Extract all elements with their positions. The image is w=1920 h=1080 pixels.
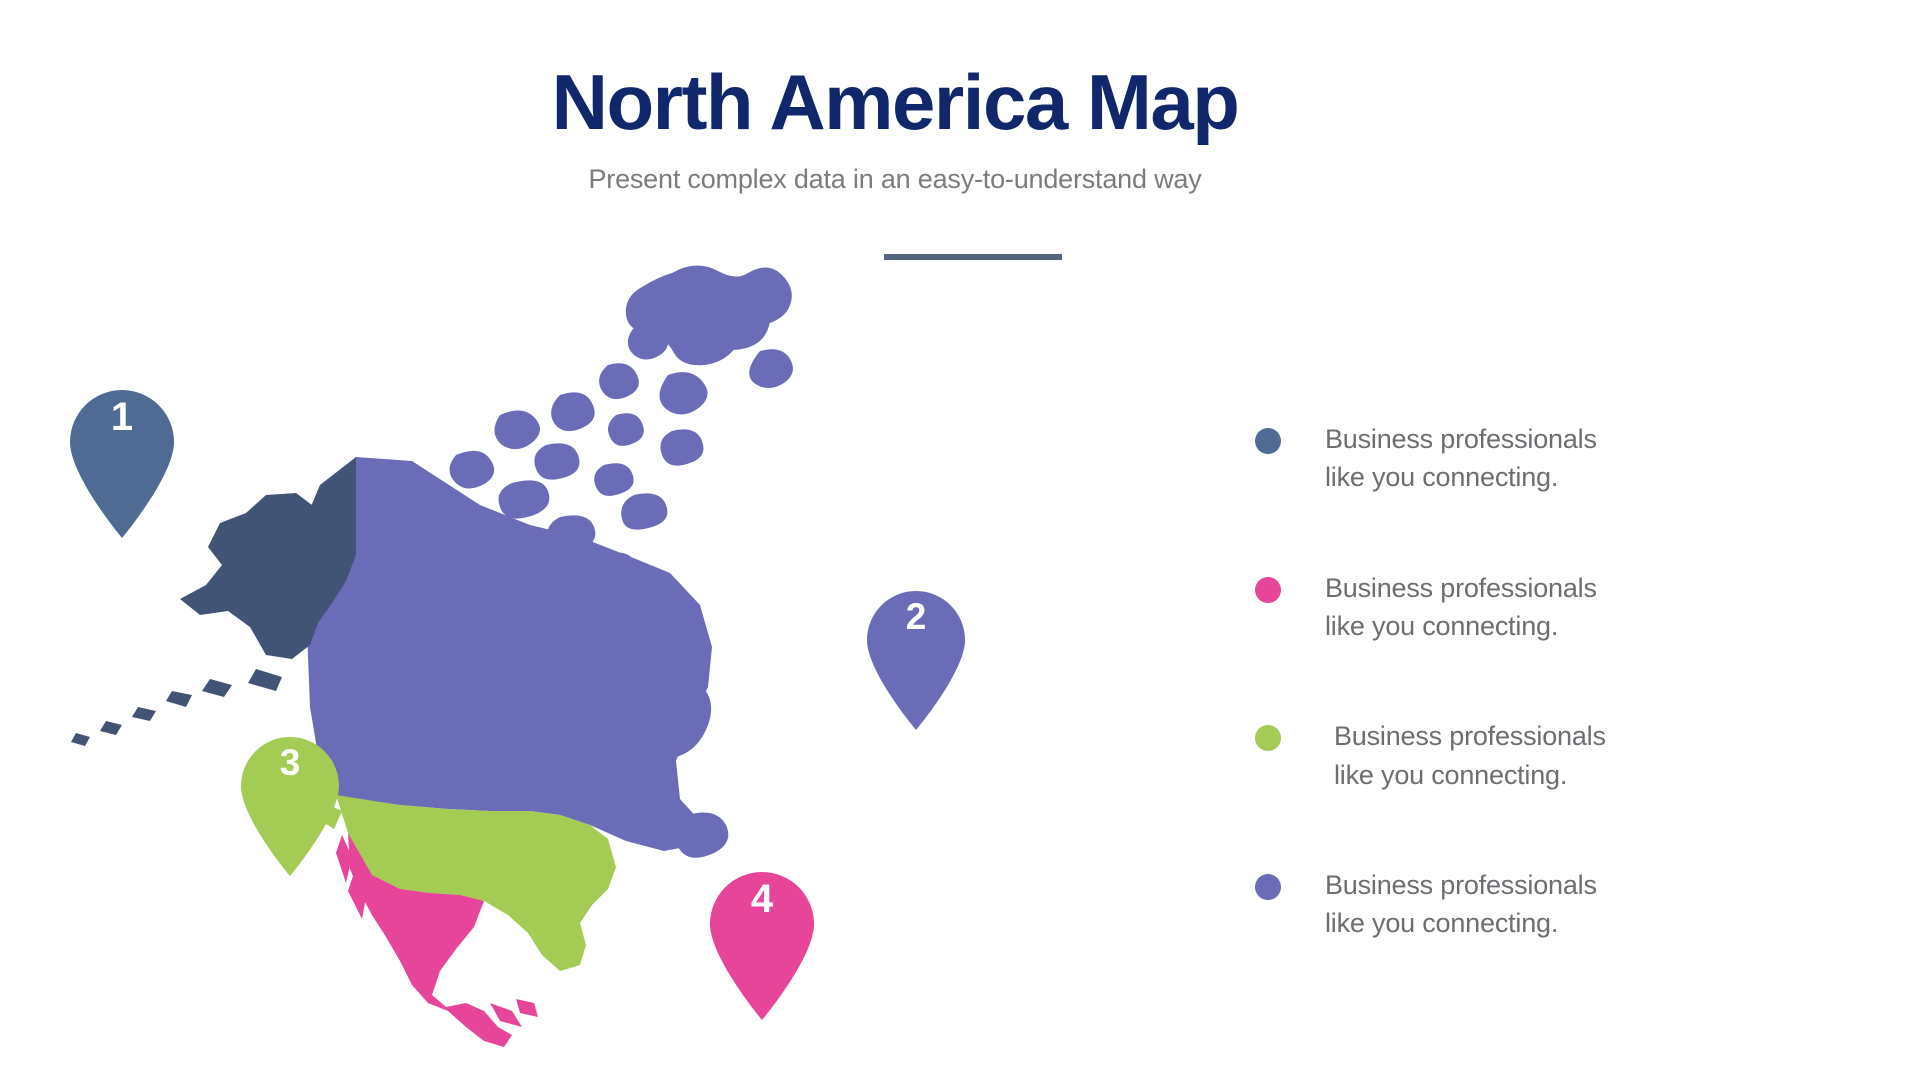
map-pin-4[interactable]: 4	[700, 862, 824, 1022]
legend-dot-icon	[1255, 428, 1281, 454]
header-block: North America Map Present complex data i…	[0, 62, 1920, 195]
legend-item-1[interactable]: Business professionals like you connecti…	[1255, 420, 1815, 497]
legend-item-3[interactable]: Business professionals like you connecti…	[1255, 717, 1815, 794]
pin-teardrop-icon	[60, 380, 184, 540]
legend-item-3-label: Business professionals like you connecti…	[1334, 717, 1606, 794]
legend-dot-icon	[1255, 577, 1281, 603]
legend: Business professionals like you connecti…	[1255, 420, 1815, 943]
legend-item-2-label: Business professionals like you connecti…	[1325, 569, 1597, 646]
map-pin-2[interactable]: 2	[858, 582, 974, 732]
legend-item-1-label: Business professionals like you connecti…	[1325, 420, 1597, 497]
legend-dot-icon	[1255, 874, 1281, 900]
legend-item-4[interactable]: Business professionals like you connecti…	[1255, 866, 1815, 943]
pin-teardrop-icon	[858, 582, 974, 732]
page-title: North America Map	[0, 62, 1920, 144]
legend-item-4-label: Business professionals like you connecti…	[1325, 866, 1597, 943]
map-pin-3[interactable]: 3	[232, 728, 348, 878]
legend-item-2[interactable]: Business professionals like you connecti…	[1255, 569, 1815, 646]
page-subtitle: Present complex data in an easy-to-under…	[0, 144, 1920, 195]
map-pin-1[interactable]: 1	[60, 380, 184, 540]
pin-teardrop-icon	[232, 728, 348, 878]
pin-teardrop-icon	[700, 862, 824, 1022]
legend-dot-icon	[1255, 725, 1281, 751]
